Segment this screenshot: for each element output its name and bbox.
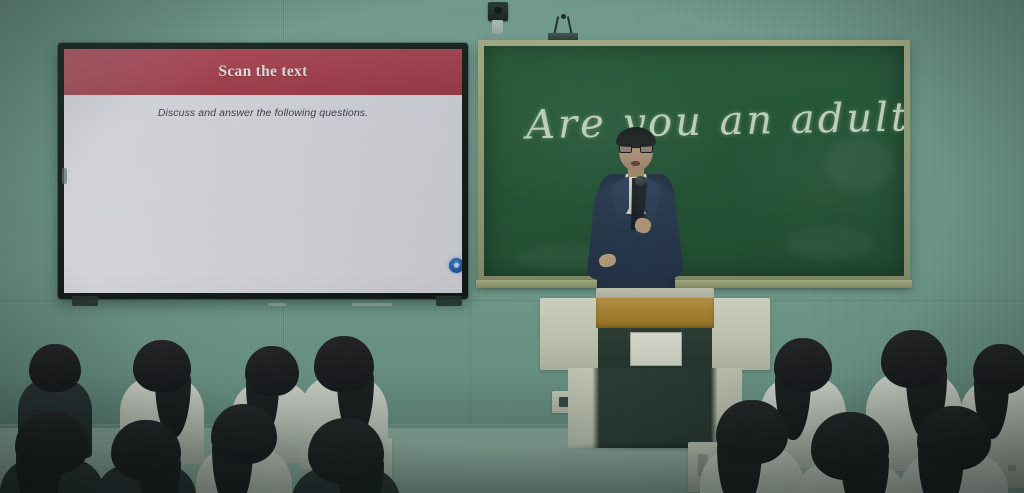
student-head bbox=[774, 338, 832, 392]
student-head bbox=[308, 418, 384, 484]
chalk-smudge-2 bbox=[824, 136, 894, 192]
student-front bbox=[196, 404, 292, 493]
slide-watermark-badge: ◉ bbox=[449, 258, 462, 273]
camera-lens-icon bbox=[494, 7, 502, 14]
student-head bbox=[133, 340, 191, 392]
chalk-smudge-1 bbox=[784, 226, 874, 260]
student-head bbox=[973, 344, 1024, 394]
student-head bbox=[211, 404, 277, 464]
student-front bbox=[0, 412, 104, 493]
student-head bbox=[811, 412, 889, 480]
bracket-knob bbox=[561, 14, 566, 19]
student-head bbox=[29, 344, 81, 392]
camera-mount-stem bbox=[492, 20, 503, 34]
eyeglasses-icon bbox=[619, 144, 653, 153]
student-head bbox=[15, 412, 89, 474]
slide-title: Scan the text bbox=[218, 63, 307, 81]
student-head bbox=[881, 330, 947, 388]
student-head bbox=[314, 336, 374, 392]
slide-title-bar: Scan the text bbox=[64, 49, 462, 95]
student-front bbox=[700, 400, 804, 493]
display-screen[interactable]: Scan the text Discuss and answer the fol… bbox=[64, 49, 462, 293]
student-head bbox=[245, 346, 299, 396]
student-front bbox=[794, 412, 906, 493]
classroom-scene: Scan the text Discuss and answer the fol… bbox=[0, 0, 1024, 493]
badge-glyph: ◉ bbox=[453, 262, 459, 269]
glasses-lens-right bbox=[640, 144, 653, 153]
student-front bbox=[900, 406, 1008, 493]
student-front bbox=[292, 418, 400, 493]
student-head bbox=[917, 406, 991, 470]
glasses-lens-left bbox=[619, 144, 632, 153]
display-stylus-holder[interactable] bbox=[62, 168, 67, 184]
student-head bbox=[716, 400, 788, 464]
teacher-mouth bbox=[631, 161, 640, 166]
slide-subtitle: Discuss and answer the following questio… bbox=[64, 107, 462, 119]
interactive-display[interactable]: Scan the text Discuss and answer the fol… bbox=[58, 43, 468, 299]
student-audience bbox=[0, 300, 1024, 493]
glasses-bridge bbox=[632, 147, 640, 148]
teacher-presenter bbox=[575, 130, 695, 300]
student-head bbox=[111, 420, 181, 480]
student-front bbox=[96, 420, 196, 493]
slide-body: Discuss and answer the following questio… bbox=[64, 95, 462, 293]
